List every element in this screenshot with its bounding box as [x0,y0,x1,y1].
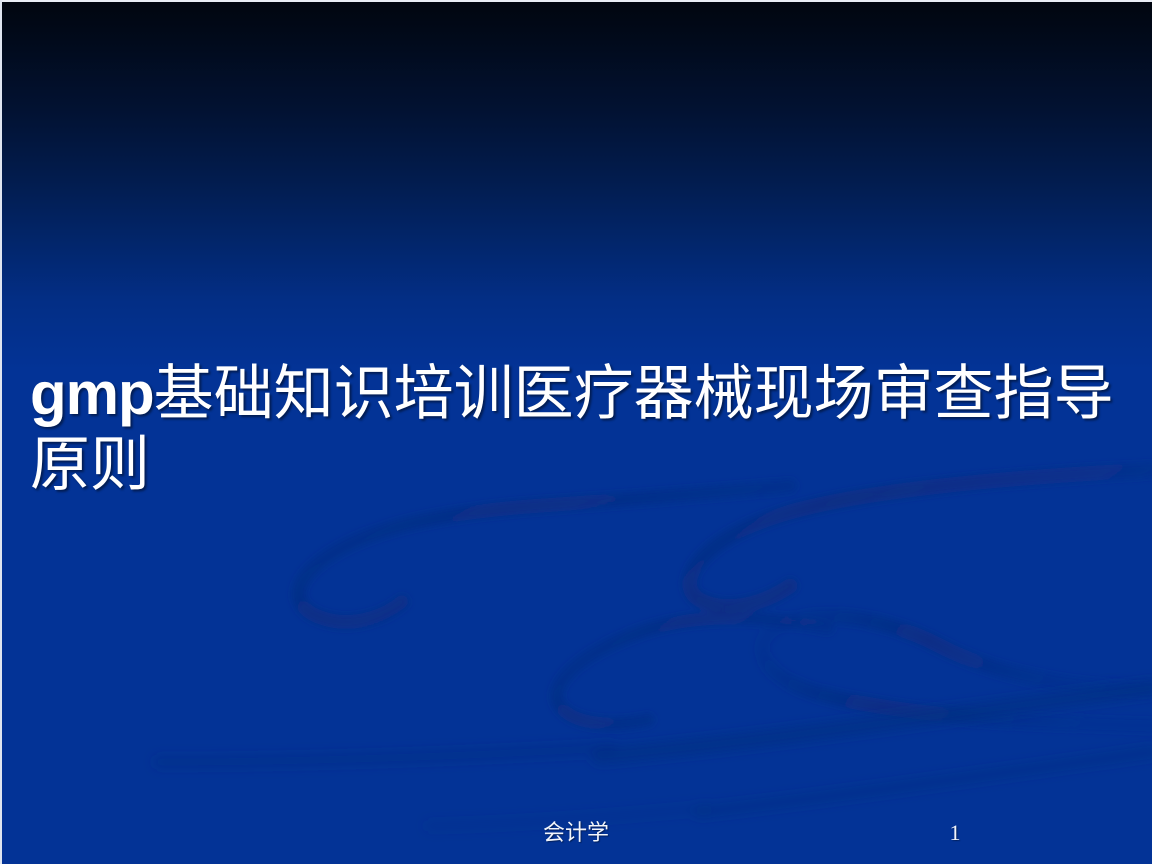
slide-frame-left-rule [0,0,2,864]
slide-frame-top-rule [0,0,1152,2]
slide-title-block: gmp基础知识培训医疗器械现场审查指导原则 [30,358,1140,501]
page-title: gmp基础知识培训医疗器械现场审查指导原则 [30,358,1140,501]
title-latin-part: gmp [30,360,154,427]
page-number: 1 [920,818,990,848]
presentation-slide: gmp基础知识培训医疗器械现场审查指导原则 会计学 1 [0,0,1152,864]
slide-footer: 会计学 1 [0,818,1152,854]
title-cjk-part: 基础知识培训医疗器械现场审查指导原则 [30,361,1114,498]
